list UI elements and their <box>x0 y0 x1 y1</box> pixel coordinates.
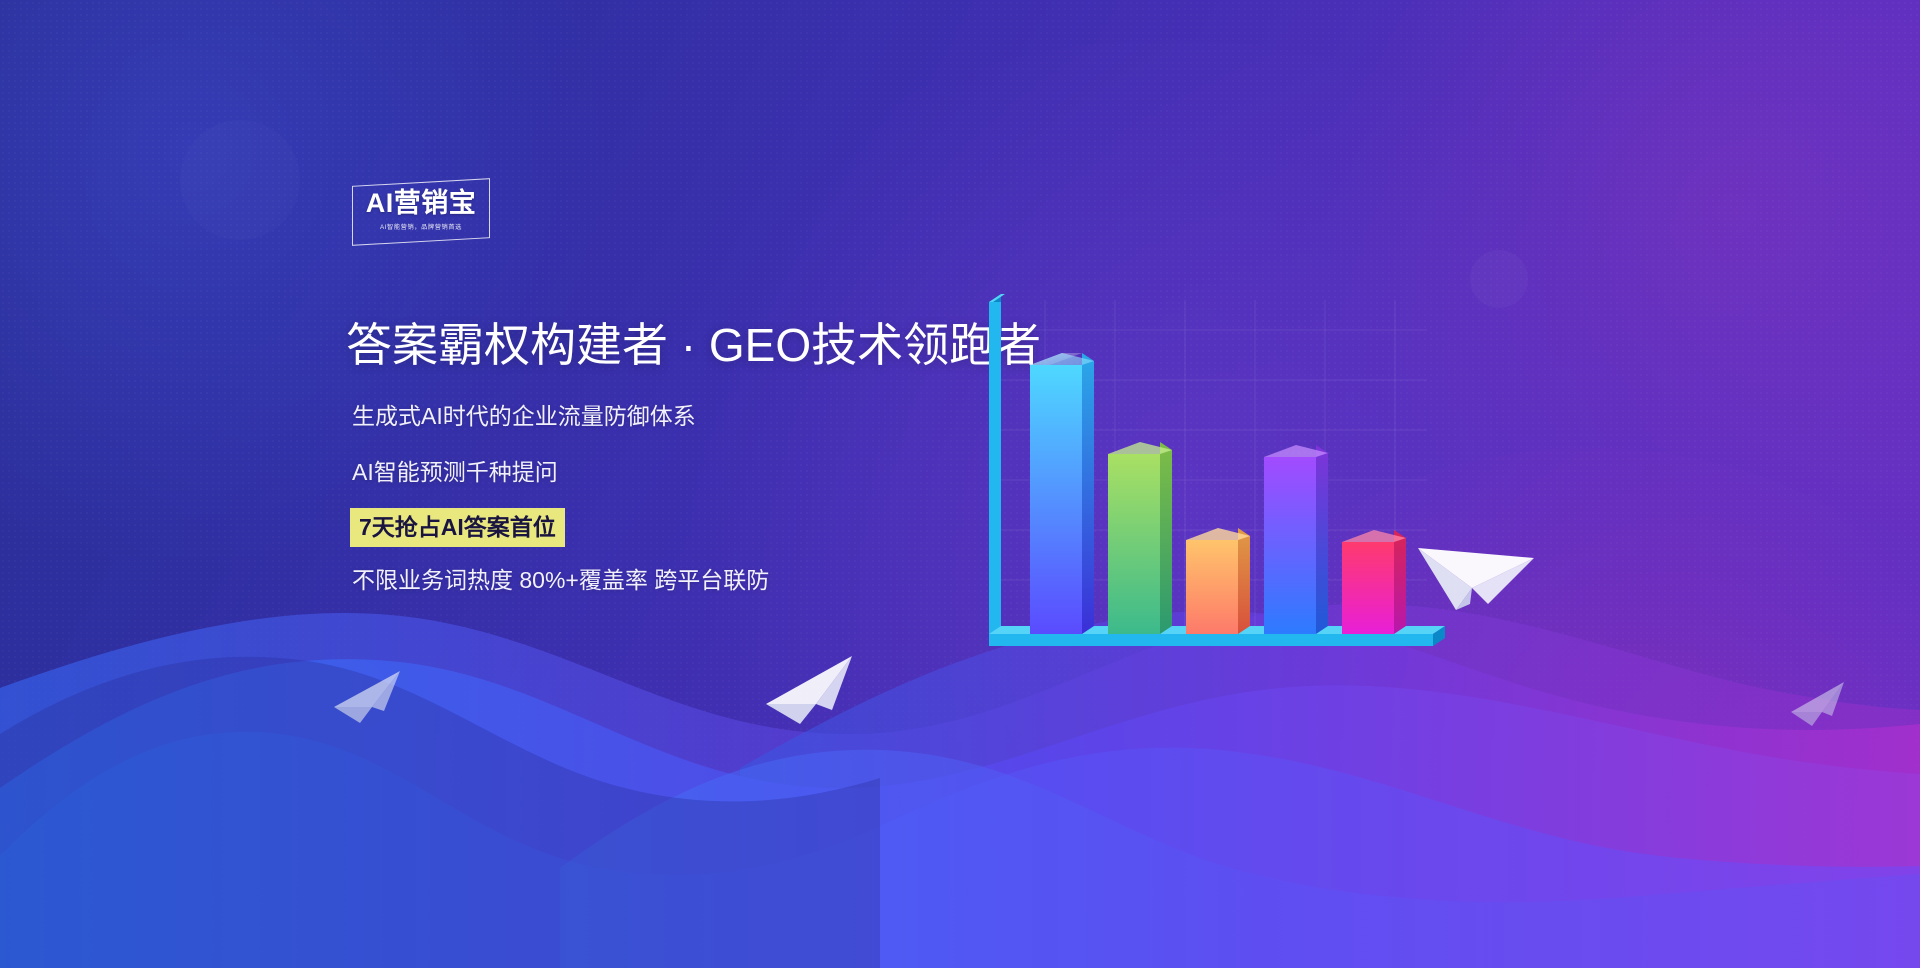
brand-logo[interactable]: AI营销宝 AI智能营销，品牌营销首选 <box>352 182 490 242</box>
paper-plane-right-large <box>1410 512 1540 617</box>
chart-bar-3 <box>1186 528 1250 634</box>
logo-tagline: AI智能营销，品牌营销首选 <box>355 221 487 231</box>
chart-bar-2 <box>1108 442 1172 634</box>
hero-subline-4: 不限业务词热度 80%+覆盖率 跨平台联防 <box>352 564 769 596</box>
paper-plane-far-right <box>1788 678 1852 730</box>
paper-plane-center <box>760 648 860 730</box>
logo-text: AI营销宝 <box>352 188 490 218</box>
hero-highlight-wrapper: 7天抢占AI答案首位 <box>350 508 565 547</box>
chart-bar-5 <box>1342 530 1406 634</box>
background-waves <box>0 538 1920 968</box>
background-circle-3 <box>180 120 300 240</box>
hero-highlight-badge: 7天抢占AI答案首位 <box>350 508 565 547</box>
chart-bar-4 <box>1264 445 1328 634</box>
hero-subline-2: AI智能预测千种提问 <box>352 456 558 488</box>
chart-bar-1 <box>1030 353 1094 634</box>
page-title: 答案霸权构建者 · GEO技术领跑者 <box>346 315 1041 375</box>
hero-banner: AI营销宝 AI智能营销，品牌营销首选 答案霸权构建者 · GEO技术领跑者 生… <box>0 0 1920 968</box>
bar-chart-illustration <box>975 290 1455 675</box>
hero-subline-1: 生成式AI时代的企业流量防御体系 <box>352 400 696 432</box>
background-circle-2 <box>1470 250 1528 308</box>
paper-plane-left <box>330 665 408 727</box>
chart-y-axis <box>989 294 1005 634</box>
